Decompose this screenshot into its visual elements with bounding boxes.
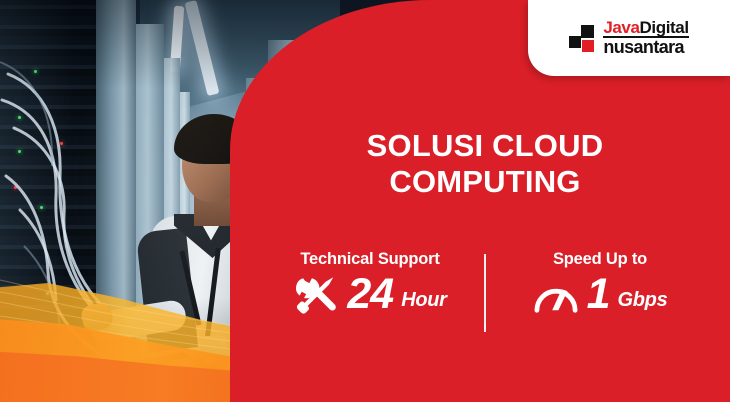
feature-title: Speed Up to <box>488 250 712 269</box>
logo-square-red <box>582 40 594 52</box>
headline-line-2: COMPUTING <box>240 164 730 200</box>
feature-speed: Speed Up to 1 Gbps <box>488 250 712 316</box>
wave-line-accents <box>0 272 240 368</box>
feature-value: 24 <box>347 273 393 316</box>
brand-logo: JavaDigital nusantara <box>569 20 688 56</box>
feature-value-row: 24 Hour <box>258 273 482 316</box>
feature-divider <box>484 254 486 332</box>
headline-line-1: SOLUSI CLOUD <box>240 128 730 164</box>
feature-row: Technical Support 24 Hour Speed Up to <box>240 250 730 332</box>
logo-square-black <box>581 25 594 38</box>
logo-line-1: JavaDigital <box>603 20 688 38</box>
feature-value: 1 <box>587 273 610 316</box>
tools-icon <box>293 274 339 316</box>
logo-nusantara-text: nusantara <box>603 39 688 56</box>
speedometer-icon <box>533 274 579 316</box>
feature-unit: Gbps <box>618 289 668 316</box>
promo-banner: JavaDigital nusantara SOLUSI CLOUD COMPU… <box>0 0 730 402</box>
logo-card[interactable]: JavaDigital nusantara <box>528 0 730 76</box>
page-title: SOLUSI CLOUD COMPUTING <box>240 128 730 200</box>
feature-value-row: 1 Gbps <box>488 273 712 316</box>
feature-technical-support: Technical Support 24 Hour <box>258 250 482 316</box>
logo-square-black <box>569 36 581 48</box>
logo-squares-icon <box>569 25 596 52</box>
feature-unit: Hour <box>401 289 446 316</box>
logo-java-text: Java <box>603 18 639 37</box>
feature-title: Technical Support <box>258 250 482 269</box>
logo-wordmark: JavaDigital nusantara <box>603 20 688 56</box>
logo-digital-text: Digital <box>640 18 689 37</box>
